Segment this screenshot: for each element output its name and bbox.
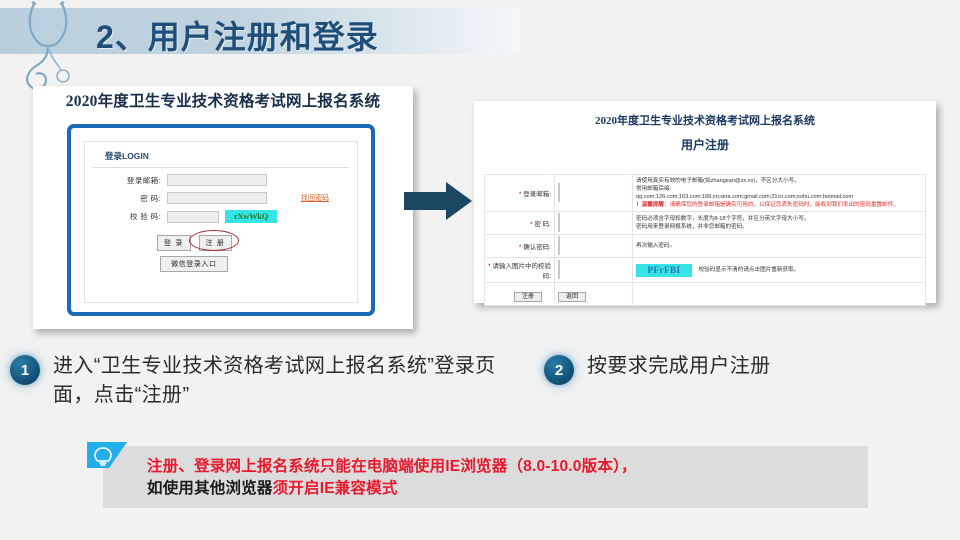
- register-page-title: 2020年度卫生专业技术资格考试网上报名系统: [474, 101, 936, 128]
- table-row: 注册 返回: [485, 283, 926, 306]
- register-confirm-field-cell: [555, 235, 633, 258]
- tip-line-1: 注册、登录网上报名系统只能在电脑端使用IE浏览器（8.0-10.0版本），: [147, 456, 860, 478]
- right-arrow-icon: [404, 180, 474, 227]
- hint-line: 再次输入密码。: [636, 242, 922, 250]
- hint-line: qq.com;126.com;163.com;189.cn;sina.com;g…: [636, 193, 922, 201]
- table-row: * 请输入图片中的校验码: PFrFBI 校验码显示不清的请点击图片重新获取。: [485, 258, 926, 283]
- register-form-table: * 登录邮箱: 请使用真实有效的电子邮箱(如zhangsan@xx.xx)，不区…: [484, 174, 926, 306]
- login-panel-heading: 登录LOGIN: [93, 142, 349, 168]
- login-button-row: 登 录 注 册: [157, 235, 357, 251]
- register-confirm-label: * 确认密码:: [485, 235, 555, 258]
- login-email-row: 登录邮箱:: [111, 174, 357, 186]
- login-panel-frame: 登录LOGIN 登录邮箱: 密 码: 找回密码 校 验 码: rXwWkQ 登 …: [67, 124, 375, 316]
- table-row: * 密 码: 密码必须含字母和数字，长度为8-18个字符，并区分英文字母大小写。…: [485, 212, 926, 235]
- register-email-hint: 请使用真实有效的电子邮箱(如zhangsan@xx.xx)，不区分大小写。 常用…: [633, 175, 926, 212]
- register-email-label: * 登录邮箱:: [485, 175, 555, 212]
- hint-line: 请使用真实有效的电子邮箱(如zhangsan@xx.xx)，不区分大小写。: [636, 177, 922, 185]
- step-2-badge: 2: [544, 355, 574, 385]
- register-section-title: 用户注册: [474, 128, 936, 153]
- login-page-title: 2020年度卫生专业技术资格考试网上报名系统: [33, 86, 413, 111]
- hint-line: 密码必须含字母和数字，长度为8-18个字符，并区分英文字母大小写。: [636, 215, 922, 223]
- register-email-input[interactable]: [558, 183, 560, 202]
- hint-line: 密码用来登录网报系统，并非您邮箱的密码。: [636, 223, 922, 231]
- register-screenshot-card: 2020年度卫生专业技术资格考试网上报名系统 用户注册 * 登录邮箱: 请使用真…: [474, 101, 936, 303]
- hint-line: 常用邮箱后缀:: [636, 185, 922, 193]
- required-star: *: [519, 191, 522, 198]
- lightbulb-icon: [87, 442, 139, 487]
- register-captcha-label: * 请输入图片中的校验码:: [485, 258, 555, 283]
- register-email-label-text: 登录邮箱:: [523, 191, 551, 198]
- login-email-label: 登录邮箱:: [111, 175, 161, 186]
- register-email-field-cell: [555, 175, 633, 212]
- register-captcha-cell: PFrFBI 校验码显示不清的请点击图片重新获取。: [633, 258, 926, 283]
- login-panel-inner: 登录LOGIN 登录邮箱: 密 码: 找回密码 校 验 码: rXwWkQ 登 …: [84, 141, 358, 303]
- login-captcha-row: 校 验 码: rXwWkQ: [111, 210, 357, 223]
- tip-line-2: 如使用其他浏览器须开启IE兼容模式: [147, 478, 860, 500]
- register-captcha-note: 校验码显示不清的请点击图片重新获取。: [699, 267, 800, 273]
- required-star: *: [488, 263, 491, 270]
- login-captcha-label: 校 验 码:: [111, 211, 161, 222]
- register-captcha-field-cell: [555, 258, 633, 283]
- login-captcha-image[interactable]: rXwWkQ: [225, 210, 277, 223]
- register-captcha-label-text: 请输入图片中的校验码:: [493, 263, 552, 280]
- step-1: 1 进入“卫生专业技术资格考试网上报名系统”登录页面，点击“注册”: [10, 352, 510, 410]
- register-password-field-cell: [555, 212, 633, 235]
- register-captcha-image[interactable]: PFrFBI: [636, 264, 692, 277]
- login-submit-button[interactable]: 登 录: [157, 235, 191, 251]
- register-back-button[interactable]: 返回: [558, 292, 586, 302]
- register-button[interactable]: 注 册: [199, 235, 233, 251]
- register-back-cell: 返回: [555, 283, 633, 306]
- login-email-input[interactable]: [167, 174, 267, 186]
- forgot-password-link[interactable]: 找回密码: [301, 193, 329, 203]
- tip-line-2-dark: 如使用其他浏览器: [147, 480, 273, 497]
- register-password-hint: 密码必须含字母和数字，长度为8-18个字符，并区分英文字母大小写。 密码用来登录…: [633, 212, 926, 235]
- page-title: 2、用户注册和登录: [96, 12, 379, 58]
- table-row: * 登录邮箱: 请使用真实有效的电子邮箱(如zhangsan@xx.xx)，不区…: [485, 175, 926, 212]
- register-captcha-input[interactable]: [558, 260, 560, 279]
- login-password-input[interactable]: [167, 192, 267, 204]
- tip-text: 注册、登录网上报名系统只能在电脑端使用IE浏览器（8.0-10.0版本）， 如使…: [147, 456, 860, 501]
- tip-line-2-red: 须开启IE兼容模式: [273, 480, 398, 497]
- register-password-label: * 密 码:: [485, 212, 555, 235]
- tip-bar: 注册、登录网上报名系统只能在电脑端使用IE浏览器（8.0-10.0版本）， 如使…: [103, 446, 868, 508]
- register-password-input[interactable]: [558, 213, 560, 232]
- register-confirm-hint: 再次输入密码。: [633, 235, 926, 258]
- register-confirm-label-text: 确认密码:: [523, 244, 551, 251]
- step-2: 2 按要求完成用户注册: [544, 352, 944, 385]
- step-2-text: 按要求完成用户注册: [587, 352, 771, 381]
- register-empty-cell: [633, 283, 926, 306]
- step-1-badge: 1: [10, 355, 40, 385]
- register-email-warning: ！温馨提醒：请确保您的登录邮箱是确实可用的，以保证您丢失密码时，能收到我们发出的…: [636, 201, 922, 209]
- register-actions-cell: 注册: [485, 283, 555, 306]
- required-star: *: [530, 221, 533, 228]
- register-submit-button[interactable]: 注册: [514, 292, 542, 302]
- required-star: *: [519, 244, 522, 251]
- login-password-row: 密 码: 找回密码: [111, 192, 357, 204]
- table-row: * 确认密码: 再次输入密码。: [485, 235, 926, 258]
- register-password-label-text: 密 码:: [534, 221, 551, 228]
- wechat-login-button[interactable]: 微信登录入口: [160, 256, 228, 272]
- warning-body: ：请确保您的登录邮箱是确实可用的，以保证您丢失密码时，能收到我们发出的密码重置邮…: [664, 202, 899, 208]
- warning-prefix: ！温馨提醒: [636, 202, 664, 208]
- login-screenshot-card: 2020年度卫生专业技术资格考试网上报名系统 登录LOGIN 登录邮箱: 密 码…: [33, 86, 413, 329]
- register-confirm-input[interactable]: [558, 236, 560, 255]
- login-captcha-input[interactable]: [167, 211, 219, 223]
- step-1-text: 进入“卫生专业技术资格考试网上报名系统”登录页面，点击“注册”: [53, 352, 510, 410]
- login-password-label: 密 码:: [111, 193, 161, 204]
